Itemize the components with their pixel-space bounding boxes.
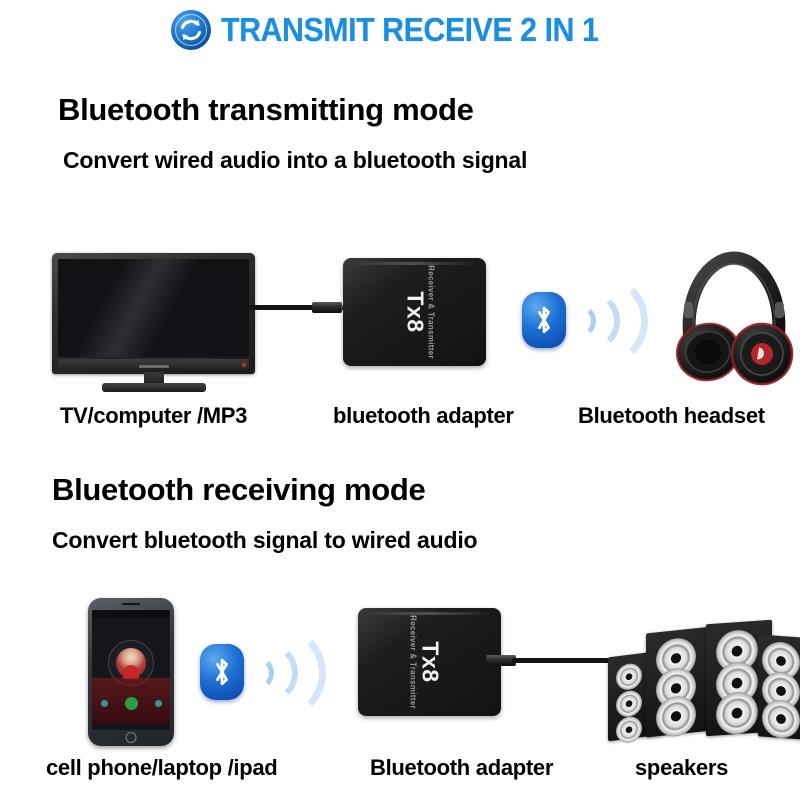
caption-adapter-transmitting: bluetooth adapter	[333, 403, 514, 429]
tv-device	[52, 253, 255, 393]
audio-plug-tv	[312, 302, 342, 313]
signal-wave-inner	[240, 656, 274, 690]
next-track-icon	[155, 700, 162, 707]
prev-track-icon	[101, 700, 108, 707]
audio-cable-speakers	[512, 658, 612, 663]
section-subtitle-receiving: Convert bluetooth signal to wired audio	[52, 527, 612, 553]
speaker-driver	[616, 715, 642, 744]
speaker-driver	[716, 691, 758, 736]
bluetooth-signal-transmitting	[514, 268, 644, 373]
bluetooth-icon	[522, 292, 566, 348]
phone-earpiece	[122, 603, 140, 605]
sync-refresh-icon	[169, 8, 213, 52]
signal-wave-inner	[562, 304, 596, 338]
tv-brand-strip	[139, 365, 169, 368]
smartphone-device	[88, 598, 174, 746]
adapter-model-label: Tx8	[416, 641, 443, 682]
speaker-driver	[616, 689, 642, 718]
phone-screen	[92, 610, 170, 730]
player-controls-area	[92, 678, 170, 724]
tv-power-led	[242, 363, 246, 367]
phone-status-bar	[92, 610, 170, 617]
tv-body	[52, 253, 255, 374]
speaker-driver	[616, 662, 642, 691]
bluetooth-headset-device	[668, 244, 800, 394]
caption-target-transmitting: Bluetooth headset	[578, 403, 765, 429]
caption-target-receiving: speakers	[635, 755, 728, 781]
section-subtitle-transmitting: Convert wired audio into a bluetooth sig…	[63, 147, 563, 173]
caption-source-receiving: cell phone/laptop /ipad	[46, 755, 277, 781]
caption-adapter-receiving: Bluetooth adapter	[370, 755, 553, 781]
album-cover-image	[116, 648, 146, 678]
header-banner: TRANSMIT RECEIVE 2 IN 1	[0, 8, 800, 52]
player-control-row	[92, 697, 170, 710]
speaker-cabinet-mid-left	[646, 627, 712, 738]
section-title-transmitting: Bluetooth transmitting mode	[58, 92, 474, 128]
tv-stand-base	[102, 383, 206, 392]
speaker-cabinet-right	[758, 634, 800, 739]
speakers-device	[608, 612, 798, 740]
phone-home-button	[126, 732, 137, 743]
adapter-model-label: Tx8	[401, 291, 428, 332]
adapter-side-text: Receiver & Transmitter	[427, 265, 436, 359]
tv-screen	[58, 259, 249, 357]
section-title-receiving: Bluetooth receiving mode	[52, 472, 425, 508]
play-button-icon	[125, 697, 138, 710]
bluetooth-adapter-receiving: Tx8 Receiver & Transmitter	[358, 608, 501, 716]
caption-source-transmitting: TV/computer /MP3	[60, 403, 247, 429]
infographic-page: TRANSMIT RECEIVE 2 IN 1 Bluetooth transm…	[0, 0, 800, 800]
bluetooth-signal-receiving	[192, 620, 322, 725]
adapter-side-text: Receiver & Transmitter	[408, 615, 417, 709]
bluetooth-icon	[200, 644, 244, 700]
page-title: TRANSMIT RECEIVE 2 IN 1	[221, 11, 598, 49]
bluetooth-adapter-transmitting: Tx8 Receiver & Transmitter	[343, 258, 486, 366]
